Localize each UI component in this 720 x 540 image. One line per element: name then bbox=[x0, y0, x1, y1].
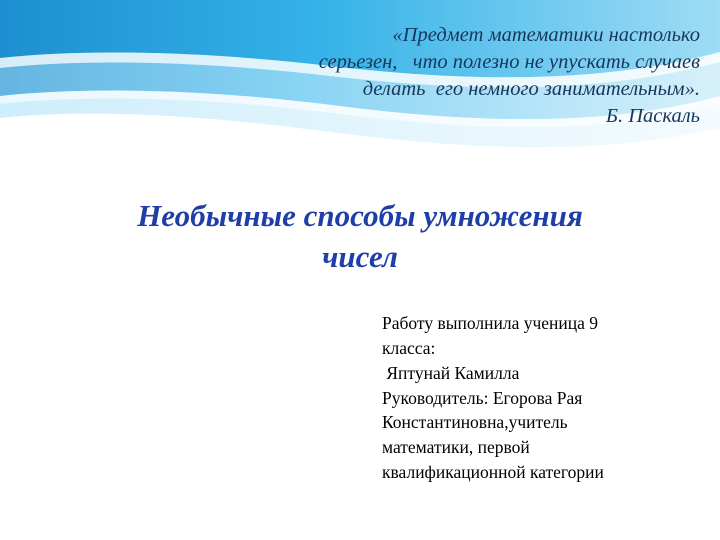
quote-block: «Предмет математики настолько серьезен, … bbox=[60, 22, 700, 130]
author-line-1: Работу выполнила ученица 9 bbox=[382, 311, 702, 336]
page-title: Необычные способы умножения чисел bbox=[16, 196, 704, 278]
quote-line-1: «Предмет математики настолько bbox=[60, 22, 700, 49]
slide: «Предмет математики настолько серьезен, … bbox=[0, 0, 720, 540]
author-line-4: Руководитель: Егорова Рая bbox=[382, 386, 702, 411]
author-line-3: Яптунай Камилла bbox=[382, 361, 702, 386]
quote-line-2: серьезен, что полезно не упускать случае… bbox=[60, 49, 700, 76]
author-line-6: математики, первой bbox=[382, 435, 702, 460]
authors-block: Работу выполнила ученица 9 класса: Яптун… bbox=[382, 311, 702, 485]
quote-attribution: Б. Паскаль bbox=[60, 103, 700, 130]
title-line-1: Необычные способы умножения bbox=[16, 196, 704, 237]
author-line-7: квалификационной категории bbox=[382, 460, 702, 485]
quote-line-3: делать его немного занимательным». bbox=[60, 76, 700, 103]
author-line-5: Константиновна,учитель bbox=[382, 410, 702, 435]
title-line-2: чисел bbox=[16, 237, 704, 278]
author-line-2: класса: bbox=[382, 336, 702, 361]
